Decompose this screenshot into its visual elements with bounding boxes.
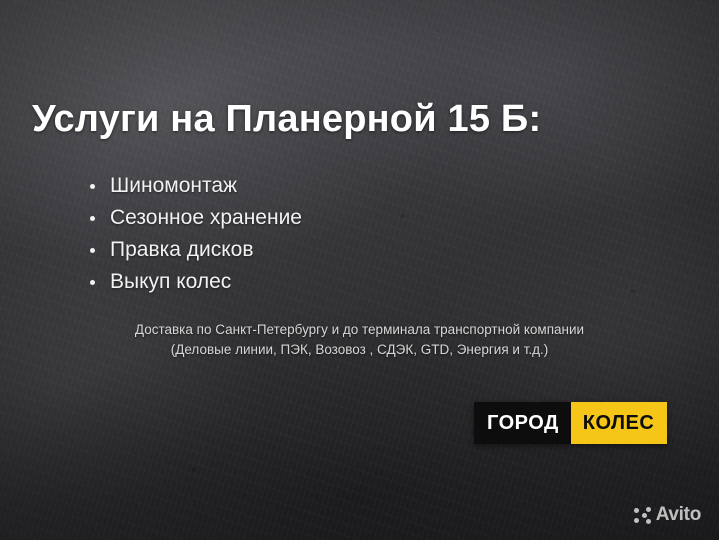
poster-image: Услуги на Планерной 15 Б: Шиномонтаж Сез… [0, 0, 719, 540]
poster-content: Услуги на Планерной 15 Б: Шиномонтаж Сез… [0, 0, 719, 540]
service-label: Шиномонтаж [110, 174, 237, 197]
service-label: Сезонное хранение [110, 206, 302, 229]
list-item: Выкуп колес [84, 266, 302, 298]
service-label: Выкуп колес [110, 270, 231, 293]
bullet-dot-icon [90, 216, 95, 221]
company-logo: ГОРОД КОЛЕС [474, 402, 667, 444]
list-item: Сезонное хранение [84, 202, 302, 234]
logo-word-gorod: ГОРОД [474, 402, 571, 444]
logo-word-koles: КОЛЕС [571, 402, 668, 444]
delivery-note: Доставка по Санкт-Петербургу и до термин… [0, 320, 719, 360]
bullet-dot-icon [90, 280, 95, 285]
list-item: Шиномонтаж [84, 170, 302, 202]
delivery-line-2: (Деловые линии, ПЭК, Возовоз , СДЭК, GTD… [0, 340, 719, 360]
list-item: Правка дисков [84, 234, 302, 266]
bullet-dot-icon [90, 248, 95, 253]
headline-title: Услуги на Планерной 15 Б: [32, 98, 692, 141]
avito-watermark-label: Avito [656, 504, 701, 526]
services-list: Шиномонтаж Сезонное хранение Правка диск… [84, 170, 302, 298]
avito-watermark: Avito [634, 504, 701, 526]
service-label: Правка дисков [110, 238, 254, 261]
avito-dots-icon [634, 507, 651, 524]
delivery-line-1: Доставка по Санкт-Петербургу и до термин… [0, 320, 719, 340]
bullet-dot-icon [90, 184, 95, 189]
